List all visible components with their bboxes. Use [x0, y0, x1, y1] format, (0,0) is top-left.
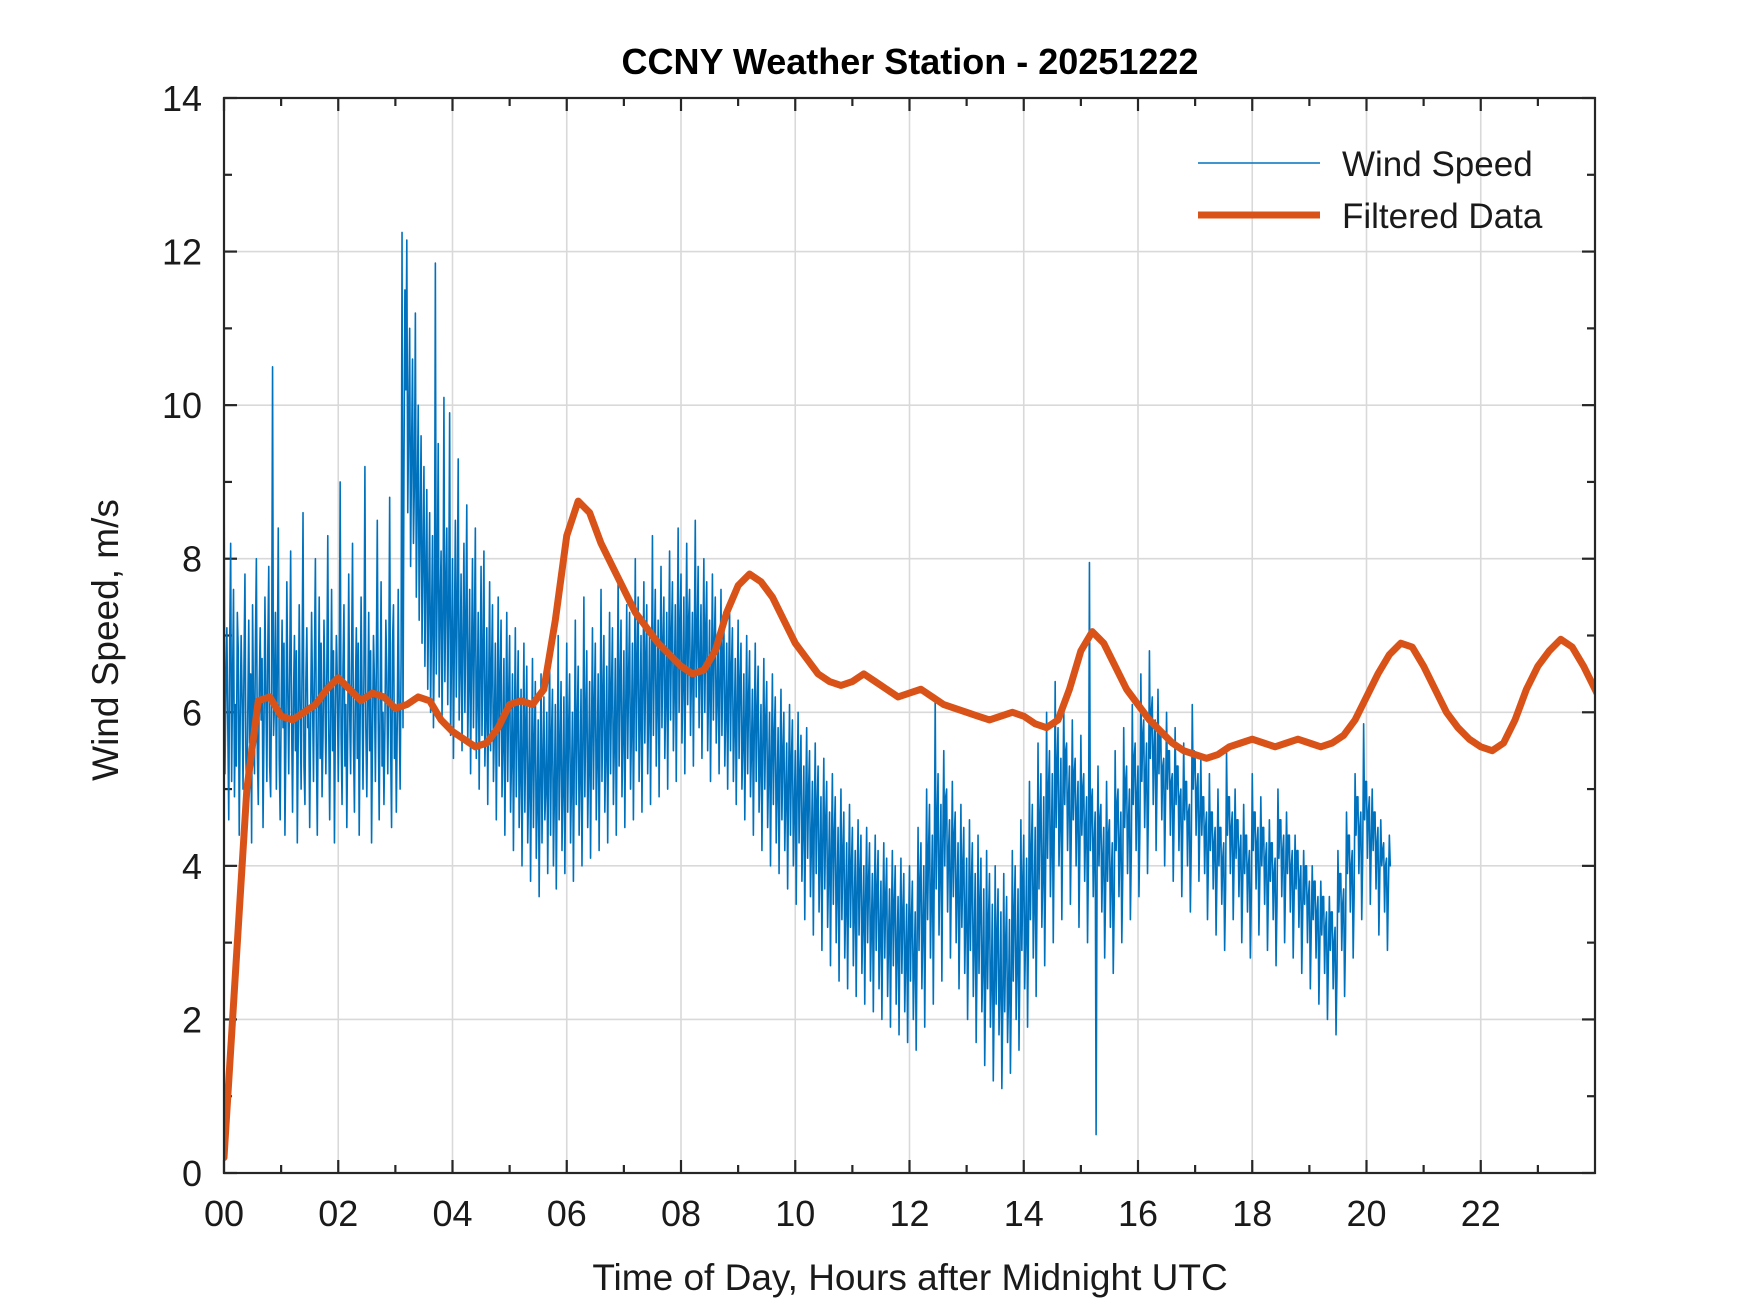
y-tick-label: 6 — [182, 692, 202, 733]
chart-title: CCNY Weather Station - 20251222 — [622, 41, 1199, 82]
x-axis-label: Time of Day, Hours after Midnight UTC — [592, 1257, 1227, 1298]
chart-figure: CCNY Weather Station - 20251222 02468101… — [0, 0, 1750, 1313]
y-tick-label: 0 — [182, 1153, 202, 1194]
x-tick-label: 22 — [1461, 1193, 1501, 1234]
y-tick-label: 4 — [182, 846, 202, 887]
x-tick-label: 20 — [1346, 1193, 1386, 1234]
x-tick-label: 16 — [1118, 1193, 1158, 1234]
y-axis-label: Wind Speed, m/s — [85, 499, 126, 781]
y-tick-label: 10 — [162, 385, 202, 426]
x-tick-label: 12 — [889, 1193, 929, 1234]
x-tick-label: 06 — [547, 1193, 587, 1234]
x-tick-label: 04 — [432, 1193, 472, 1234]
x-tick-label: 14 — [1004, 1193, 1044, 1234]
y-tick-label: 14 — [162, 78, 202, 119]
y-tick-label: 12 — [162, 232, 202, 273]
wind-speed-time-series-chart: CCNY Weather Station - 20251222 02468101… — [0, 0, 1750, 1313]
x-tick-label: 18 — [1232, 1193, 1272, 1234]
x-tick-label: 08 — [661, 1193, 701, 1234]
x-tick-label: 10 — [775, 1193, 815, 1234]
legend-label-filtered-data: Filtered Data — [1342, 197, 1543, 236]
y-tick-label: 8 — [182, 539, 202, 580]
x-tick-label: 00 — [204, 1193, 244, 1234]
y-tick-label: 2 — [182, 999, 202, 1040]
x-tick-label: 02 — [318, 1193, 358, 1234]
legend-label-wind-speed: Wind Speed — [1342, 145, 1533, 184]
